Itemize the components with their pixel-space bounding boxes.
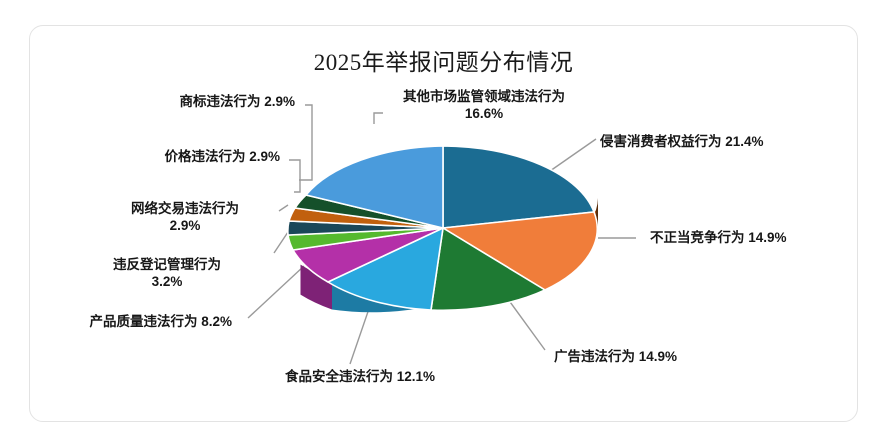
label-registration-line1: 违反登记管理行为 xyxy=(92,256,242,273)
label-price-text: 价格违法行为 2.9% xyxy=(164,149,280,164)
label-consumer-rights-text: 侵害消费者权益行为 21.4% xyxy=(600,134,764,149)
label-product-quality-text: 产品质量违法行为 8.2% xyxy=(89,314,232,329)
label-trademark-text: 商标违法行为 2.9% xyxy=(179,94,295,109)
label-price: 价格违法行为 2.9% xyxy=(120,148,280,165)
label-registration: 违反登记管理行为 3.2% xyxy=(92,256,242,290)
label-food-safety: 食品安全违法行为 12.1% xyxy=(265,368,455,385)
label-trademark: 商标违法行为 2.9% xyxy=(140,93,295,110)
label-consumer-rights: 侵害消费者权益行为 21.4% xyxy=(600,133,764,150)
label-product-quality: 产品质量违法行为 8.2% xyxy=(42,313,232,330)
label-other-line1: 其他市场监管领域违法行为 xyxy=(384,88,584,105)
label-online-trade-line2: 2.9% xyxy=(110,217,260,234)
label-food-safety-text: 食品安全违法行为 12.1% xyxy=(285,369,435,384)
label-unfair-competition-text: 不正当竞争行为 14.9% xyxy=(650,230,787,245)
label-advertising: 广告违法行为 14.9% xyxy=(554,348,677,365)
label-advertising-text: 广告违法行为 14.9% xyxy=(554,349,677,364)
label-registration-line2: 3.2% xyxy=(92,273,242,290)
label-other-line2: 16.6% xyxy=(384,105,584,122)
label-unfair-competition: 不正当竞争行为 14.9% xyxy=(650,229,787,246)
label-other: 其他市场监管领域违法行为 16.6% xyxy=(384,88,584,122)
chart-title: 2025年举报问题分布情况 xyxy=(30,43,857,77)
label-online-trade-line1: 网络交易违法行为 xyxy=(110,200,260,217)
label-online-trade: 网络交易违法行为 2.9% xyxy=(110,200,260,234)
